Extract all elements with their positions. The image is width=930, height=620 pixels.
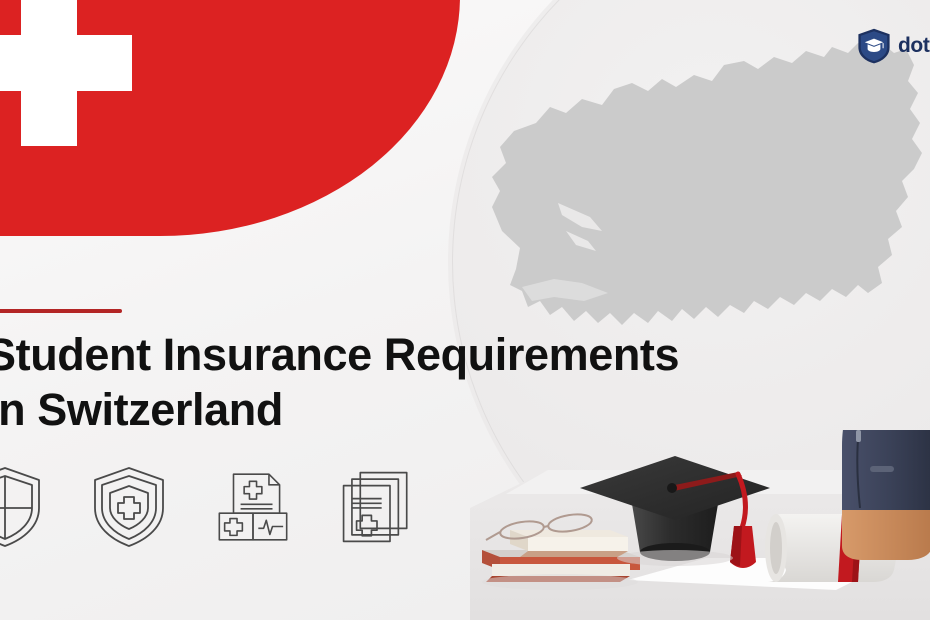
shield-quartered-icon [0,464,44,550]
stacked-documents-cross-icon [338,464,416,550]
accent-rule [0,309,122,313]
medical-report-chart-icon [214,464,292,550]
desk-photo-composition [470,430,930,620]
shield-graduation-cap-icon [857,28,891,64]
brand-name: dotze [898,34,930,58]
icon-strip [0,464,416,550]
shield-medical-cross-icon [90,464,168,550]
blog-hero-banner: Student Insurance Requirements in Switze… [0,0,930,620]
swiss-flag-cross-horizontal [0,35,132,91]
brand-logo[interactable]: dotze [857,28,930,64]
page-title: Student Insurance Requirements in Switze… [0,328,746,438]
backpack [842,430,930,560]
switzerland-map-icon [462,35,930,370]
